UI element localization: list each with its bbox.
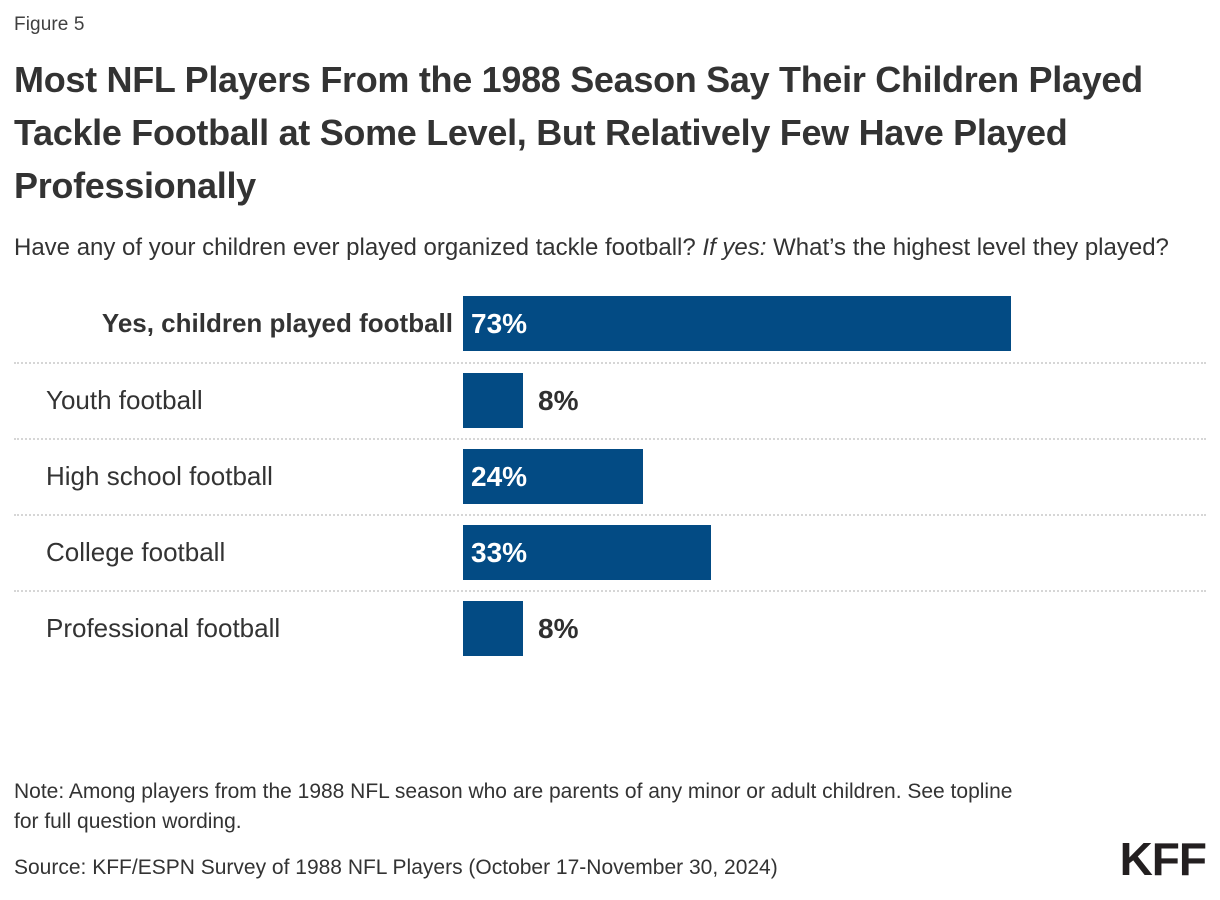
bar-track: 24% [463, 440, 1206, 514]
chart-subtitle: Have any of your children ever played or… [14, 231, 1204, 264]
bar-value-label: 24% [463, 463, 527, 491]
row-label: High school football [14, 461, 463, 492]
bar: 24% [463, 449, 643, 504]
bar: 73% [463, 296, 1011, 351]
row-label: Youth football [14, 385, 463, 416]
chart-footer: Note: Among players from the 1988 NFL se… [14, 777, 1206, 882]
row-label: Yes, children played football [14, 308, 463, 339]
bar [463, 373, 523, 428]
chart-row: Professional football8% [14, 590, 1206, 666]
bar-value-label: 8% [523, 387, 578, 415]
subtitle-emphasis: If yes: [702, 234, 766, 261]
row-label: Professional football [14, 613, 463, 644]
chart-row: High school football24% [14, 438, 1206, 514]
kff-logo: KFF [1120, 832, 1206, 886]
bar: 33% [463, 525, 711, 580]
bar-track: 33% [463, 516, 1206, 590]
footnote-note: Note: Among players from the 1988 NFL se… [14, 777, 1024, 837]
bar-track: 8% [463, 364, 1206, 438]
footnote-source: Source: KFF/ESPN Survey of 1988 NFL Play… [14, 853, 1206, 882]
bar-value-label: 73% [463, 310, 527, 338]
bar-value-label: 8% [523, 615, 578, 643]
chart-title: Most NFL Players From the 1988 Season Sa… [14, 54, 1174, 213]
figure-container: Figure 5 Most NFL Players From the 1988 … [0, 0, 1220, 900]
chart-row: Yes, children played football73% [14, 286, 1206, 362]
bar [463, 601, 523, 656]
bar-chart: Yes, children played football73%Youth fo… [14, 286, 1206, 666]
chart-row: Youth football8% [14, 362, 1206, 438]
chart-row: College football33% [14, 514, 1206, 590]
row-label: College football [14, 537, 463, 568]
bar-track: 8% [463, 592, 1206, 666]
bar-track: 73% [463, 286, 1206, 362]
bar-value-label: 33% [463, 539, 527, 567]
subtitle-part-1: Have any of your children ever played or… [14, 234, 702, 261]
figure-label: Figure 5 [14, 0, 1206, 36]
subtitle-part-2: What’s the highest level they played? [766, 234, 1168, 261]
